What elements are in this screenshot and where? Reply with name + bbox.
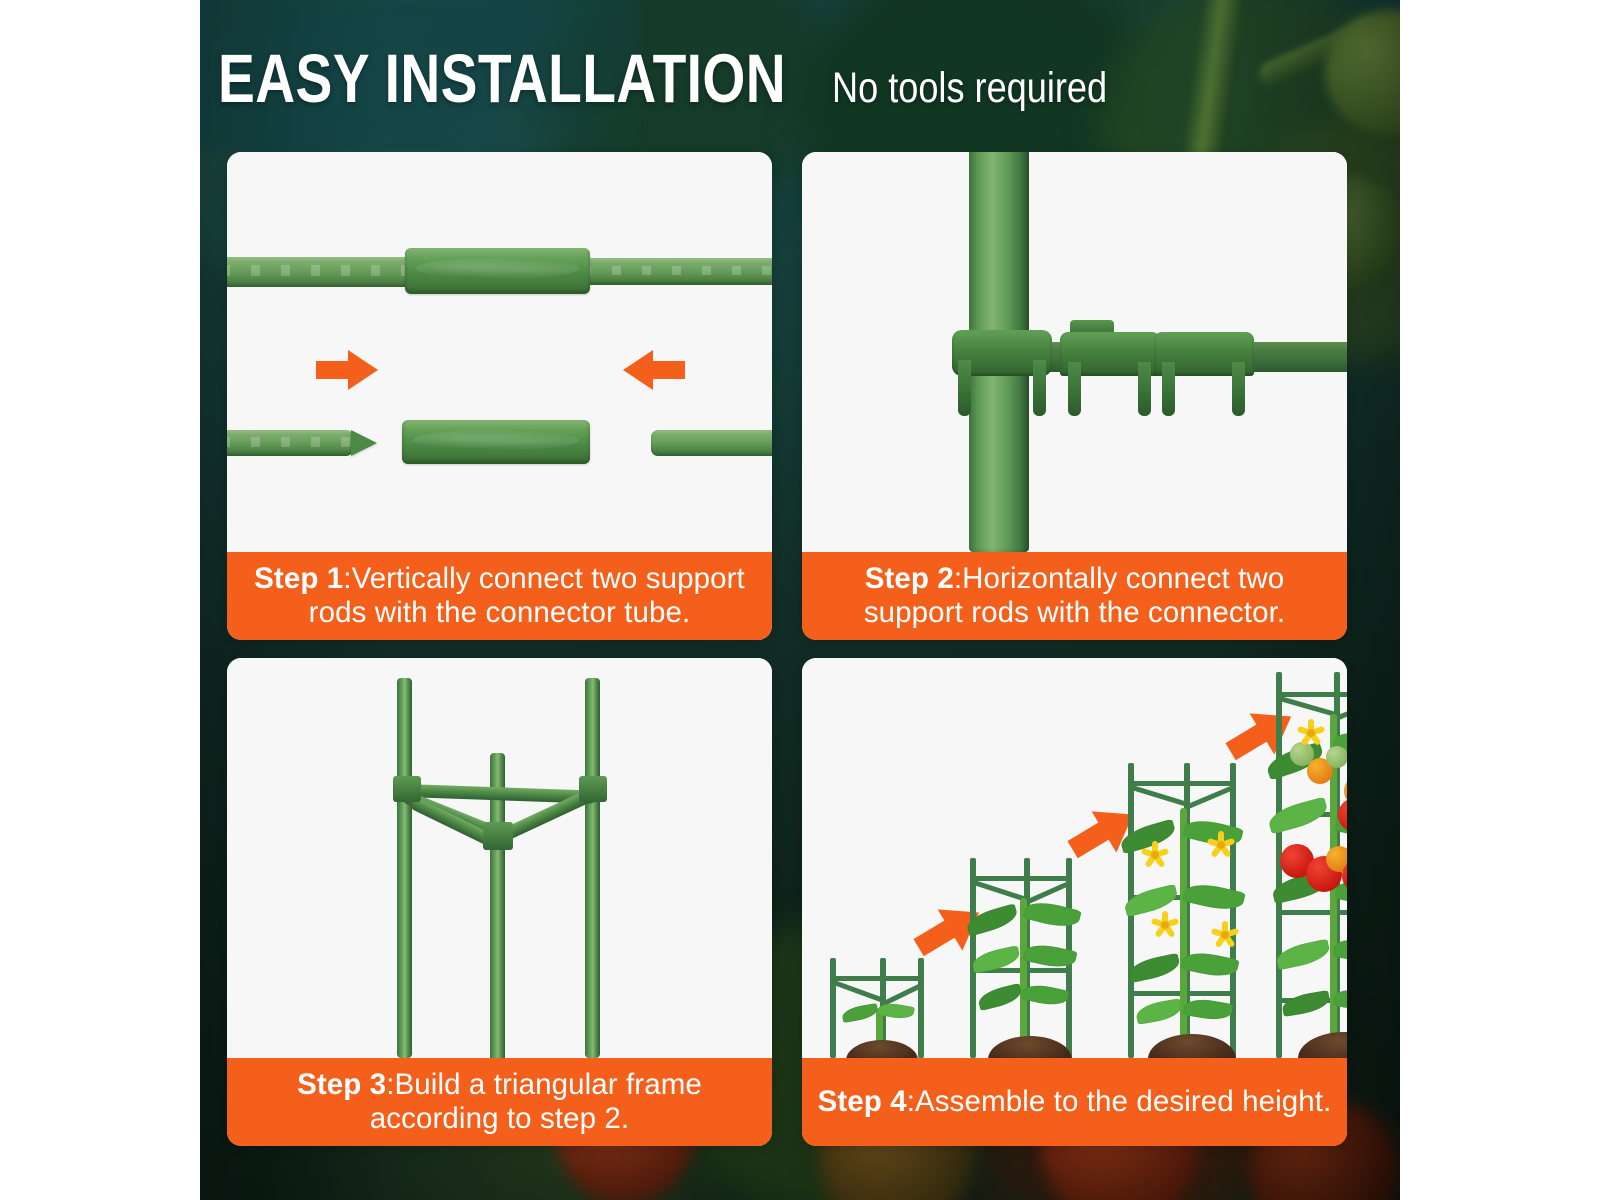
step-2-illustration — [802, 152, 1347, 552]
step-card-3[interactable]: Step 3:Build a triangular frame accordin… — [227, 658, 772, 1146]
step-card-2[interactable]: Step 2:Horizontally connect two support … — [802, 152, 1347, 640]
infographic-canvas: EASY INSTALLATION No tools required — [0, 0, 1600, 1200]
step-card-4[interactable]: Step 4:Assemble to the desired height. — [802, 658, 1347, 1146]
step-1-separator: : — [343, 562, 351, 595]
steps-grid: Step 1:Vertically connect two support ro… — [227, 152, 1347, 1152]
step-4-caption-text: Step 4:Assemble to the desired height. — [818, 1085, 1332, 1119]
clip-prong — [958, 360, 971, 416]
step-3-separator: : — [386, 1068, 394, 1101]
page-subtitle: No tools required — [832, 67, 1107, 110]
connector-tube-loose — [402, 420, 590, 464]
support-rod-left — [227, 257, 426, 287]
support-rod-plain — [651, 430, 772, 456]
step-3-caption-text: Step 3:Build a triangular frame accordin… — [241, 1068, 758, 1136]
step-4-text: Assemble to the desired height. — [915, 1085, 1331, 1118]
rod-texture — [227, 265, 426, 276]
banner-heading: EASY INSTALLATION No tools required — [218, 46, 1160, 112]
plant-stem-stage-2 — [1020, 898, 1027, 1058]
step-1-caption-text: Step 1:Vertically connect two support ro… — [241, 562, 758, 630]
arrow-right-icon — [316, 350, 378, 390]
connector-tube-assembled — [405, 248, 590, 294]
frame-joint-right — [579, 776, 607, 802]
rod-texture — [227, 437, 353, 446]
clip-prong — [1033, 360, 1046, 416]
plant-flower — [1206, 830, 1236, 860]
arrow-left-icon — [623, 350, 685, 390]
plant-flower — [1140, 840, 1170, 870]
rod-pointed-tip — [351, 430, 377, 456]
tomato-green — [1326, 746, 1347, 768]
step-4-illustration — [802, 658, 1347, 1058]
clip-prong — [1138, 362, 1151, 416]
step-3-illustration — [227, 658, 772, 1058]
clip-prong — [1068, 362, 1081, 416]
step-4-caption: Step 4:Assemble to the desired height. — [802, 1058, 1347, 1146]
support-rod-right — [582, 258, 772, 285]
step-3-caption: Step 3:Build a triangular frame accordin… — [227, 1058, 772, 1146]
step-card-1[interactable]: Step 1:Vertically connect two support ro… — [227, 152, 772, 640]
step-3-text: Build a triangular frame according to st… — [370, 1068, 702, 1135]
support-rod-pointed — [227, 430, 353, 456]
clip-prong — [1232, 362, 1245, 416]
frame-post-left — [397, 678, 412, 1058]
step-1-text: Vertically connect two support rods with… — [309, 562, 745, 629]
step-4-separator: : — [907, 1085, 915, 1118]
step-4-label: Step 4 — [818, 1085, 907, 1118]
clip-prong — [1162, 362, 1175, 416]
step-2-label: Step 2 — [865, 562, 954, 595]
step-1-illustration — [227, 152, 772, 552]
step-2-caption: Step 2:Horizontally connect two support … — [802, 552, 1347, 640]
plant-flower — [1296, 718, 1326, 748]
frame-joint-left — [393, 776, 421, 802]
frame-joint-center — [483, 822, 513, 850]
frame-post-right — [585, 678, 600, 1058]
plant-flower — [1150, 910, 1180, 940]
step-1-caption: Step 1:Vertically connect two support ro… — [227, 552, 772, 640]
step-2-caption-text: Step 2:Horizontally connect two support … — [816, 562, 1333, 630]
step-3-label: Step 3 — [297, 1068, 386, 1101]
plant-flower — [1210, 920, 1240, 950]
plant-stem-stage-3 — [1180, 808, 1187, 1058]
page-title: EASY INSTALLATION — [218, 46, 786, 112]
step-1-label: Step 1 — [254, 562, 343, 595]
step-2-separator: : — [954, 562, 962, 595]
rod-texture — [582, 266, 772, 276]
